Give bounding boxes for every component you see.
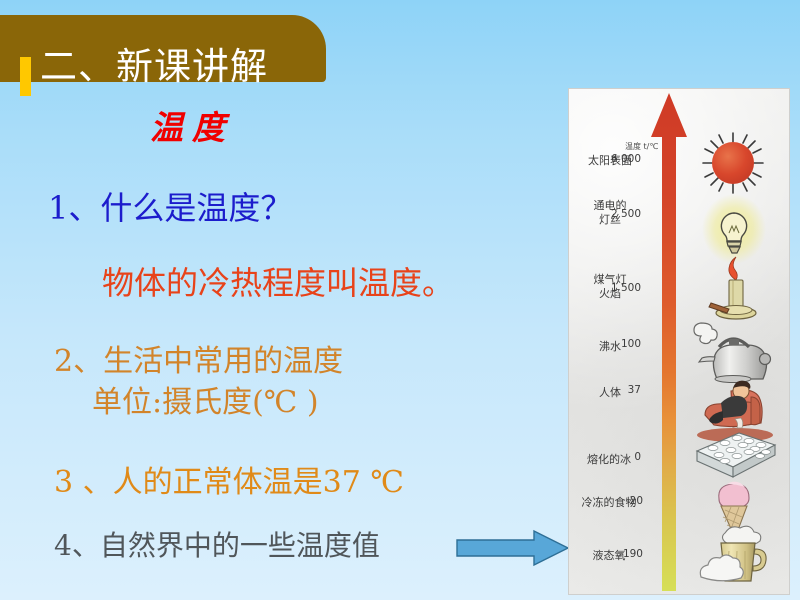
question-1: 1、什么是温度？: [48, 183, 292, 229]
figure-row-value-6: -20: [601, 495, 643, 507]
figure-row-value-4: 37: [599, 384, 641, 396]
figure-row-value-0: 6 000: [599, 153, 641, 165]
topic-title: 温度: [150, 101, 234, 149]
figure-column-header: 温度 t/℃: [625, 141, 658, 152]
header-accent-bar: [20, 57, 31, 96]
slide-canvas: 二、新课讲解 温度 1、什么是温度？ 物体的冷热程度叫温度。 2、生活中常用的温…: [0, 0, 800, 600]
liquid-oxygen-mug-icon: [695, 521, 781, 593]
question-4: 4、自然界中的一些温度值: [54, 524, 380, 564]
page-title: 二、新课讲解: [40, 45, 268, 89]
answer-1: 物体的冷热程度叫温度。: [102, 258, 454, 304]
temperature-scale-figure: 温度 t/℃ 太阳表面 6 000: [568, 88, 790, 595]
question-2-line-2: 单位:摄氏度(℃ ): [92, 377, 319, 421]
figure-row-value-3: 100: [599, 338, 641, 350]
header-band: 二、新课讲解: [0, 15, 326, 82]
thermometer-arrow-icon: [649, 93, 689, 591]
question-3: 3 、人的正常体温是37 ℃: [54, 457, 404, 501]
question-2-line-1: 2、生活中常用的温度: [54, 336, 343, 380]
figure-row-value-7: -190: [601, 548, 643, 560]
figure-row-value-2: 1 500: [599, 282, 641, 294]
right-arrow-icon: [456, 529, 570, 567]
figure-row-value-1: 2 500: [599, 208, 641, 220]
figure-row-value-5: 0: [599, 451, 641, 463]
sun-icon: [697, 127, 769, 199]
gas-burner-icon: [703, 253, 769, 327]
